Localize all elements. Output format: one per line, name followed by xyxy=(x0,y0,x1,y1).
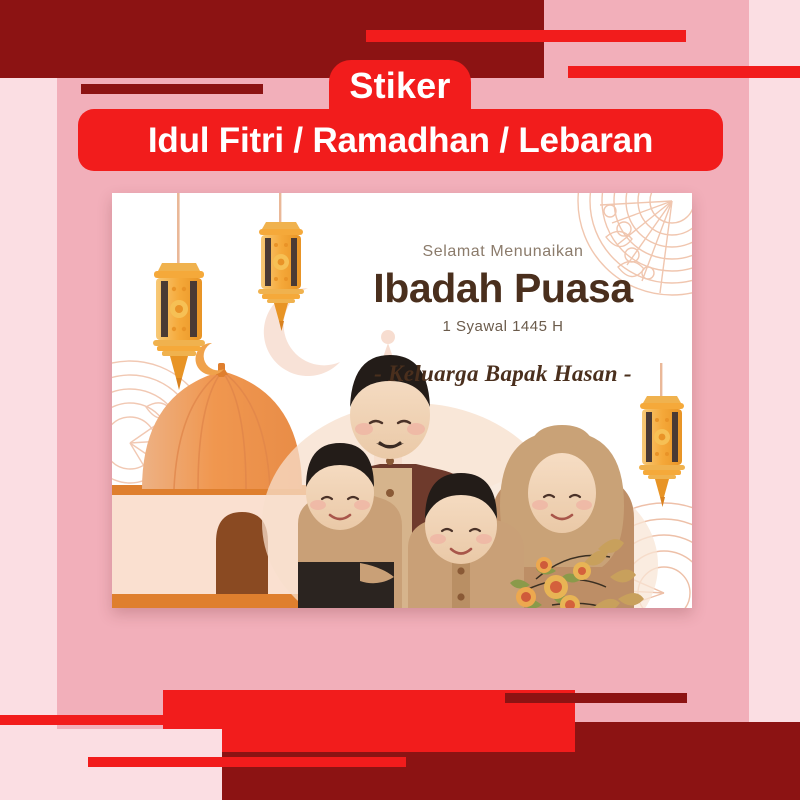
accent-bar-bottom-3 xyxy=(88,757,406,767)
accent-bar-top-3 xyxy=(81,84,263,94)
title-banner: Idul Fitri / Ramadhan / Lebaran xyxy=(78,109,723,171)
greeting-main: Ibadah Puasa xyxy=(338,265,668,312)
greeting-text-block: Selamat Menunaikan Ibadah Puasa 1 Syawal… xyxy=(338,243,668,387)
greeting-small: Selamat Menunaikan xyxy=(338,243,668,261)
stiker-badge: Stiker xyxy=(329,60,471,112)
family-name: - Keluarga Bapak Hasan - xyxy=(338,361,668,387)
title-banner-label: Idul Fitri / Ramadhan / Lebaran xyxy=(148,123,653,158)
accent-bar-top-1 xyxy=(366,30,686,42)
accent-bar-bottom-1 xyxy=(0,715,225,725)
sticker-card-artwork: Selamat Menunaikan Ibadah Puasa 1 Syawal… xyxy=(112,193,692,608)
sticker-card[interactable]: Selamat Menunaikan Ibadah Puasa 1 Syawal… xyxy=(112,193,692,608)
hanging-lantern-middle xyxy=(258,193,304,331)
poster-canvas: Stiker Idul Fitri / Ramadhan / Lebaran xyxy=(0,0,800,800)
accent-bar-top-2 xyxy=(568,66,800,78)
hijri-date: 1 Syawal 1445 H xyxy=(338,318,668,335)
accent-bar-bottom-2 xyxy=(505,693,687,703)
background-right-strip xyxy=(749,0,800,800)
stiker-badge-label: Stiker xyxy=(349,68,450,104)
